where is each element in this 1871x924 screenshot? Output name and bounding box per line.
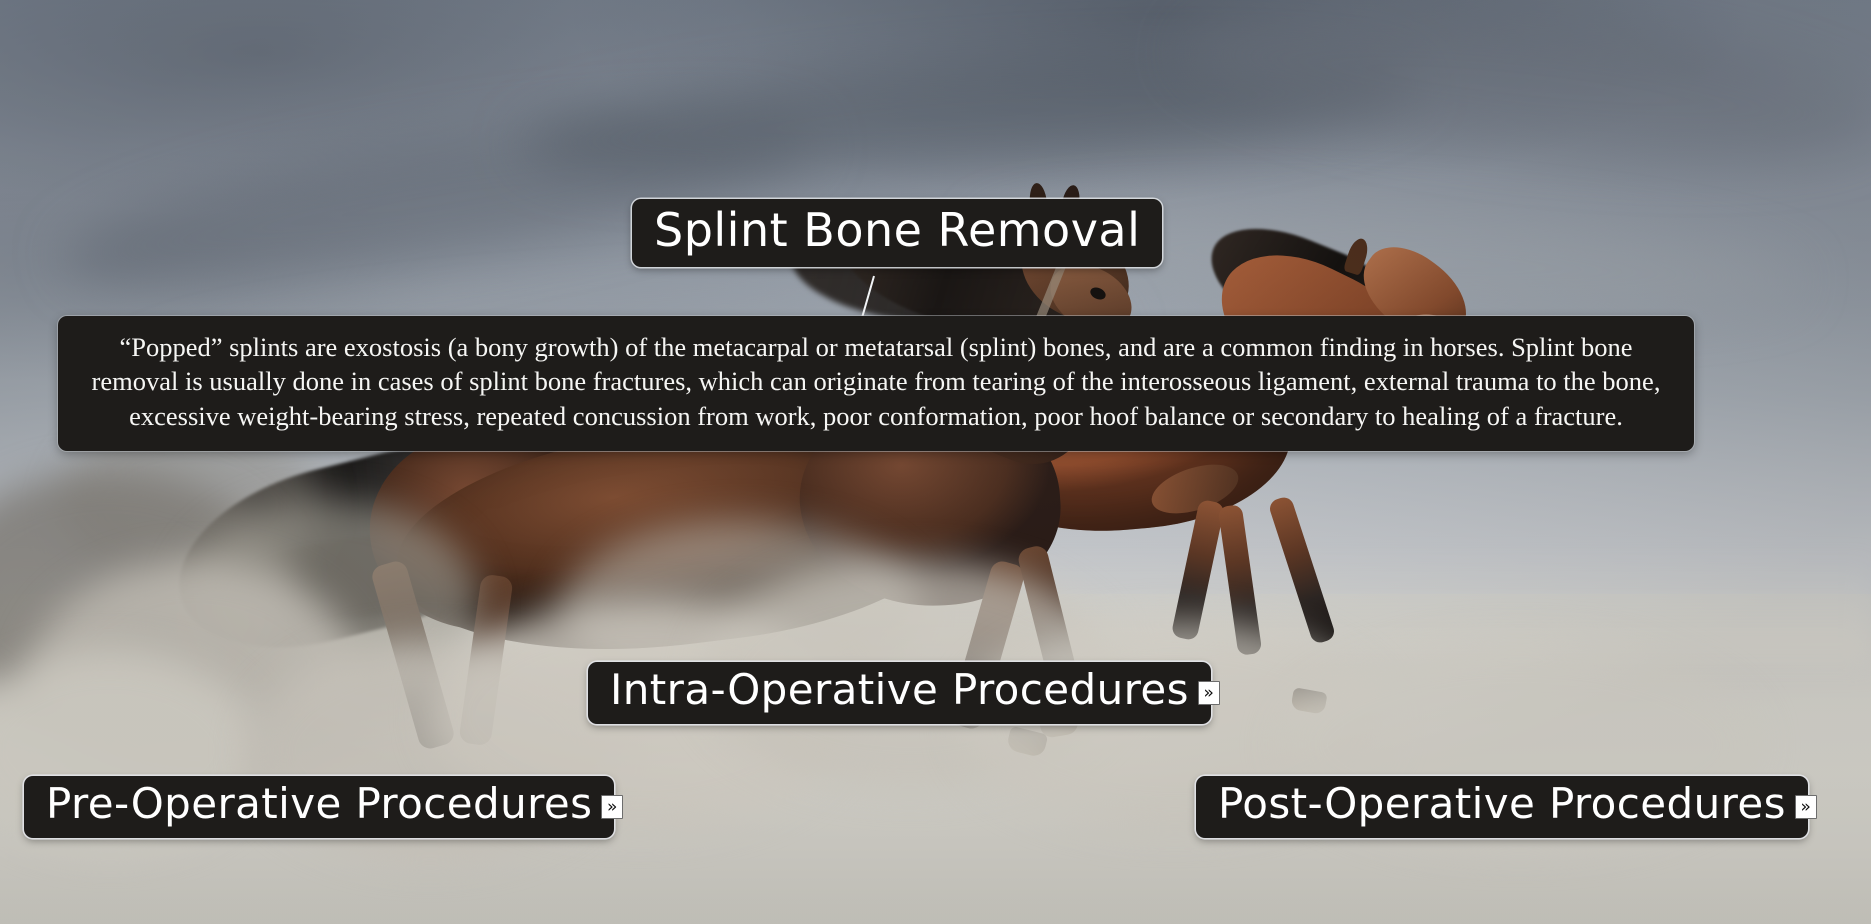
slide-canvas: Splint Bone Removal “Popped” splints are… [0,0,1871,924]
chevron-right-icon[interactable]: » [1198,681,1220,705]
nav-button-post-operative[interactable]: Post-Operative Procedures » [1196,776,1808,838]
nav-button-pre-operative[interactable]: Pre-Operative Procedures » [24,776,614,838]
nav-button-intra-operative[interactable]: Intra-Operative Procedures » [588,662,1211,724]
page-title: Splint Bone Removal [632,199,1162,267]
cloud-streak [1175,0,1871,186]
nav-button-intra-operative-label: Intra-Operative Procedures [610,665,1189,714]
nav-button-post-operative-label: Post-Operative Procedures [1218,779,1786,828]
chevron-right-icon[interactable]: » [601,795,623,819]
description-card: “Popped” splints are exostosis (a bony g… [58,316,1694,451]
nav-button-pre-operative-label: Pre-Operative Procedures [46,779,592,828]
chevron-right-icon[interactable]: » [1795,795,1817,819]
description-text: “Popped” splints are exostosis (a bony g… [78,330,1674,433]
